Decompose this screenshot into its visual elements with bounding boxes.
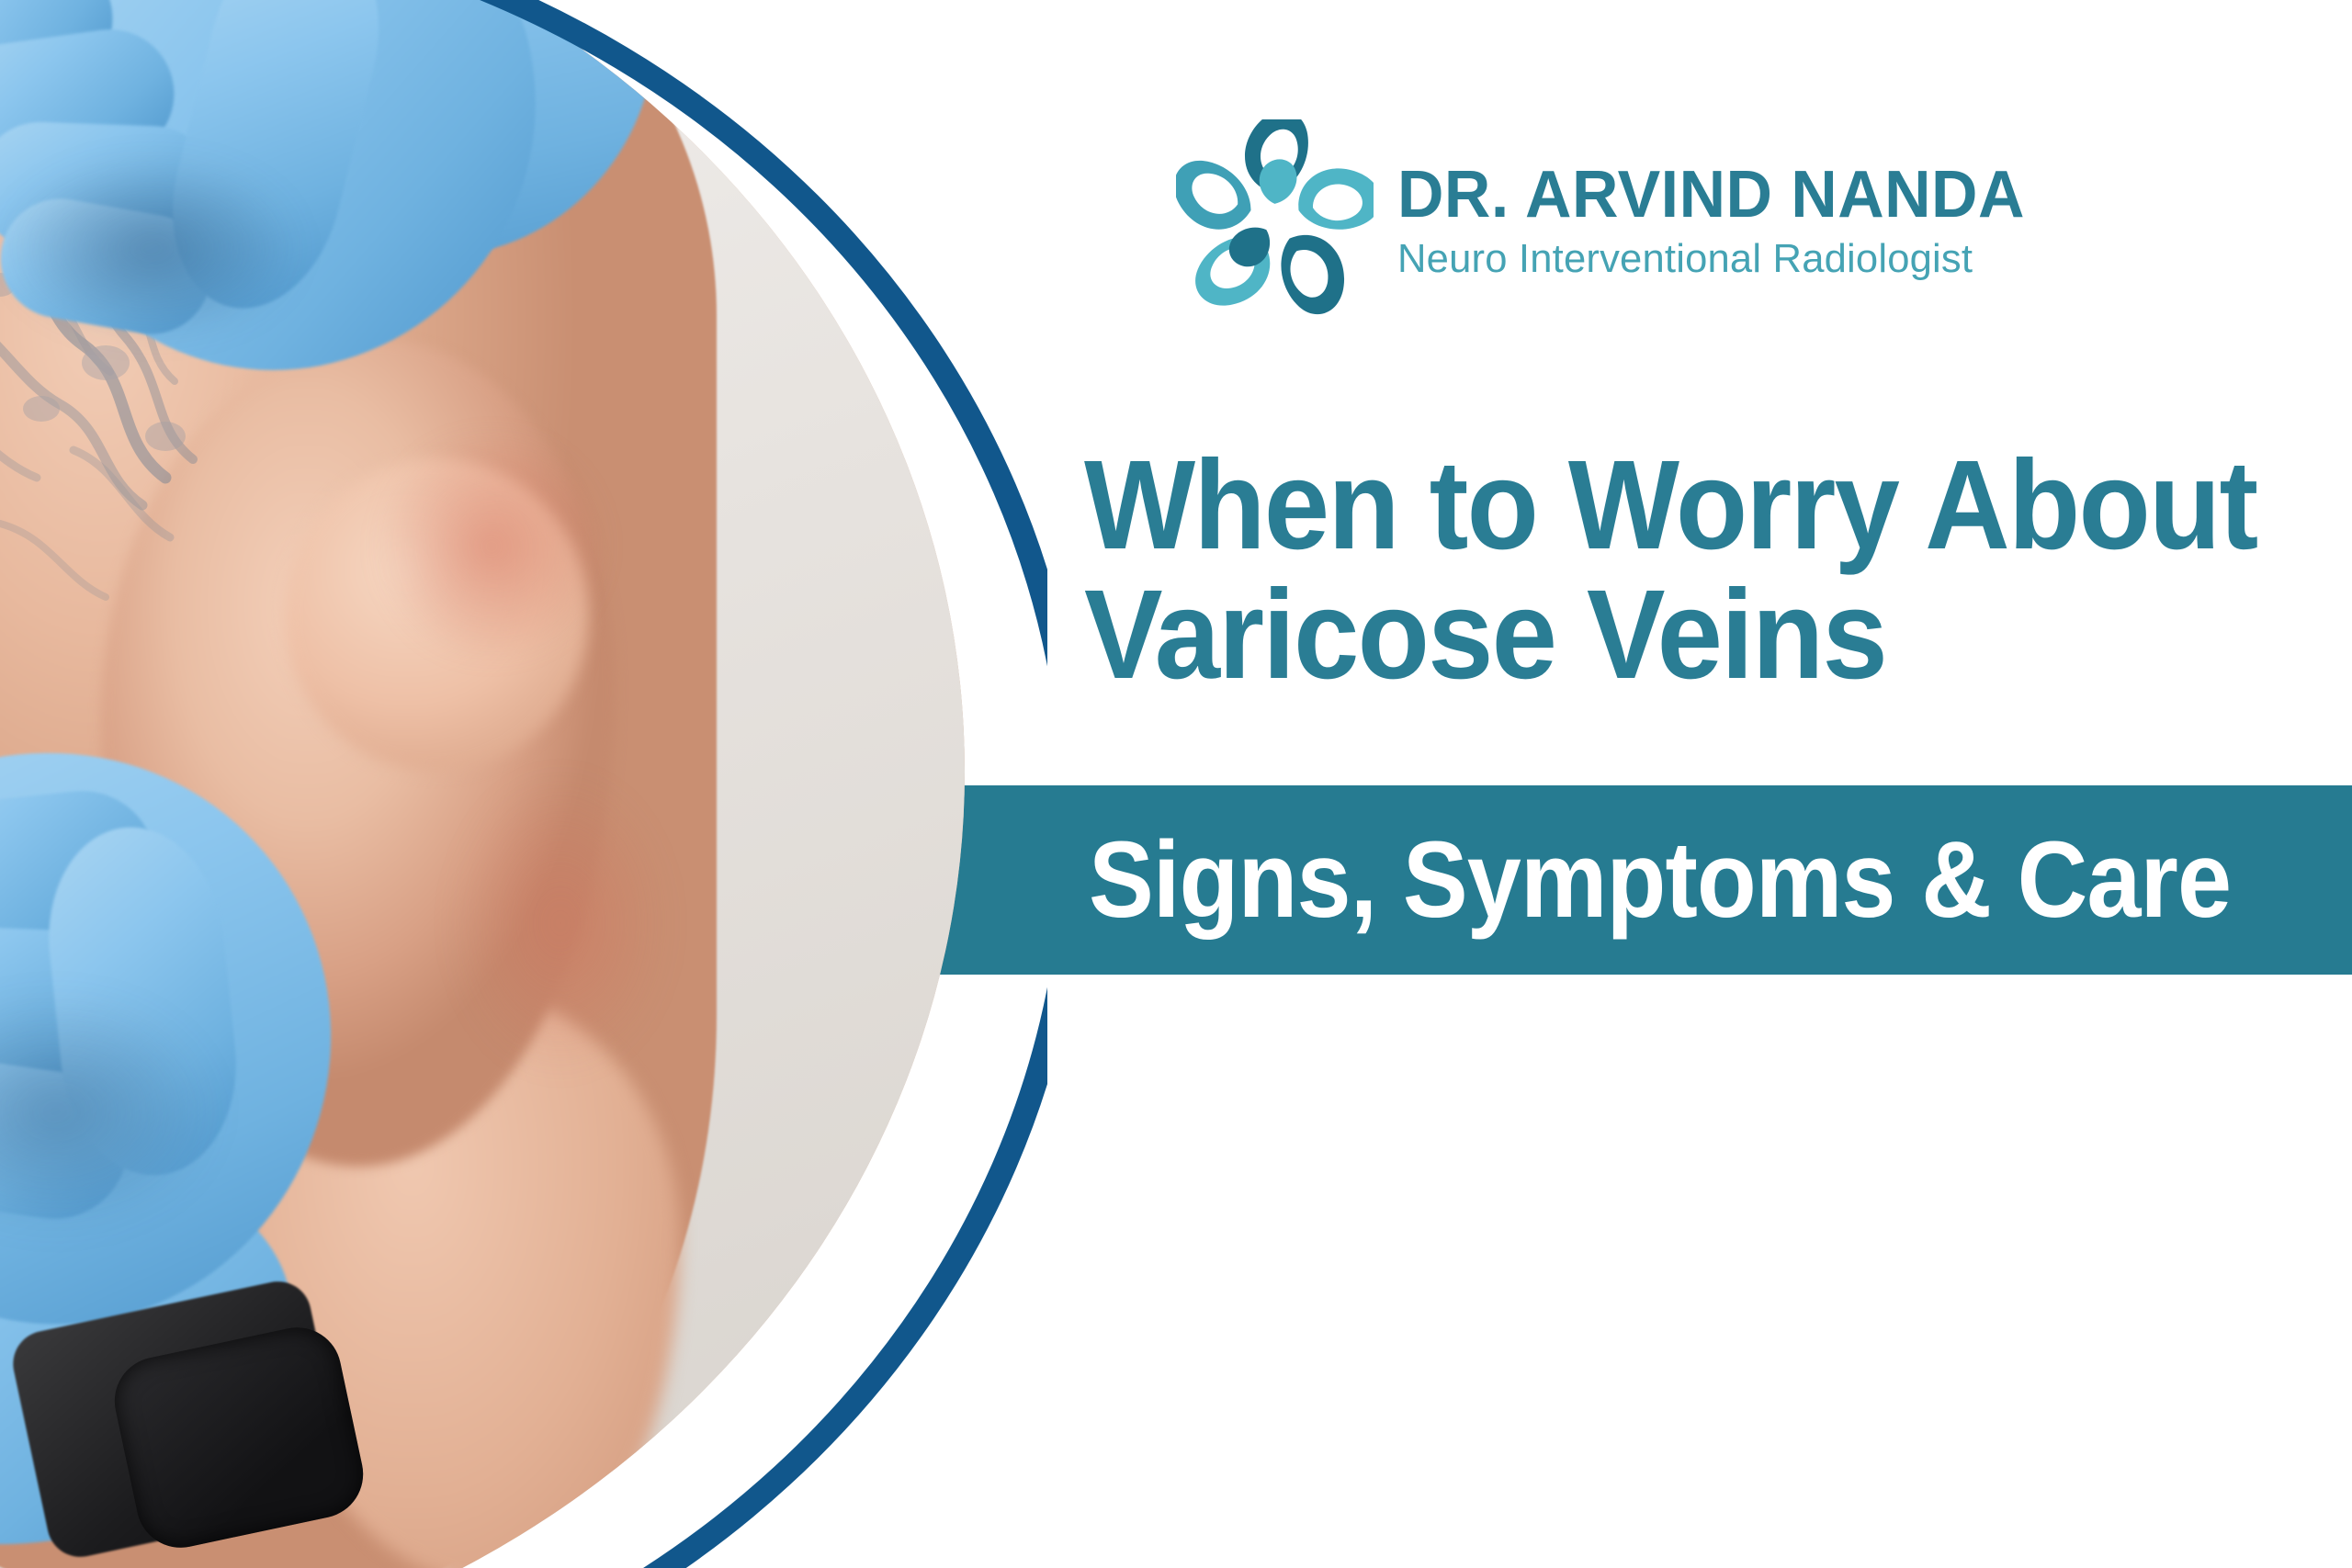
headline-line-1: When to Worry About <box>1084 441 2263 570</box>
brand-logo[interactable]: DR. ARVIND NANDA Neuro Interventional Ra… <box>1176 119 2044 317</box>
banner-canvas: Signs, Symptoms & Care When to Worry Abo… <box>0 0 2352 1568</box>
photo-skin-redness-lower <box>450 772 671 1075</box>
page-title: When to Worry About Varicose Veins <box>1084 441 2263 700</box>
subtitle-text: Signs, Symptoms & Care <box>1089 785 2197 975</box>
brand-tagline: Neuro Interventional Radiologist <box>1397 239 2038 279</box>
hero-photo <box>0 0 1047 1568</box>
photo-glove-upper-shadow <box>0 156 303 340</box>
brand-name: DR. ARVIND NANDA <box>1397 162 2025 228</box>
brand-logo-wordmark: DR. ARVIND NANDA Neuro Interventional Ra… <box>1397 158 2044 279</box>
pinwheel-petals-logo-icon <box>1176 119 1374 317</box>
hero-photo-image <box>0 0 1047 1568</box>
headline-line-2: Varicose Veins <box>1084 570 2263 700</box>
photo-glove-lower-shadow <box>0 992 220 1231</box>
